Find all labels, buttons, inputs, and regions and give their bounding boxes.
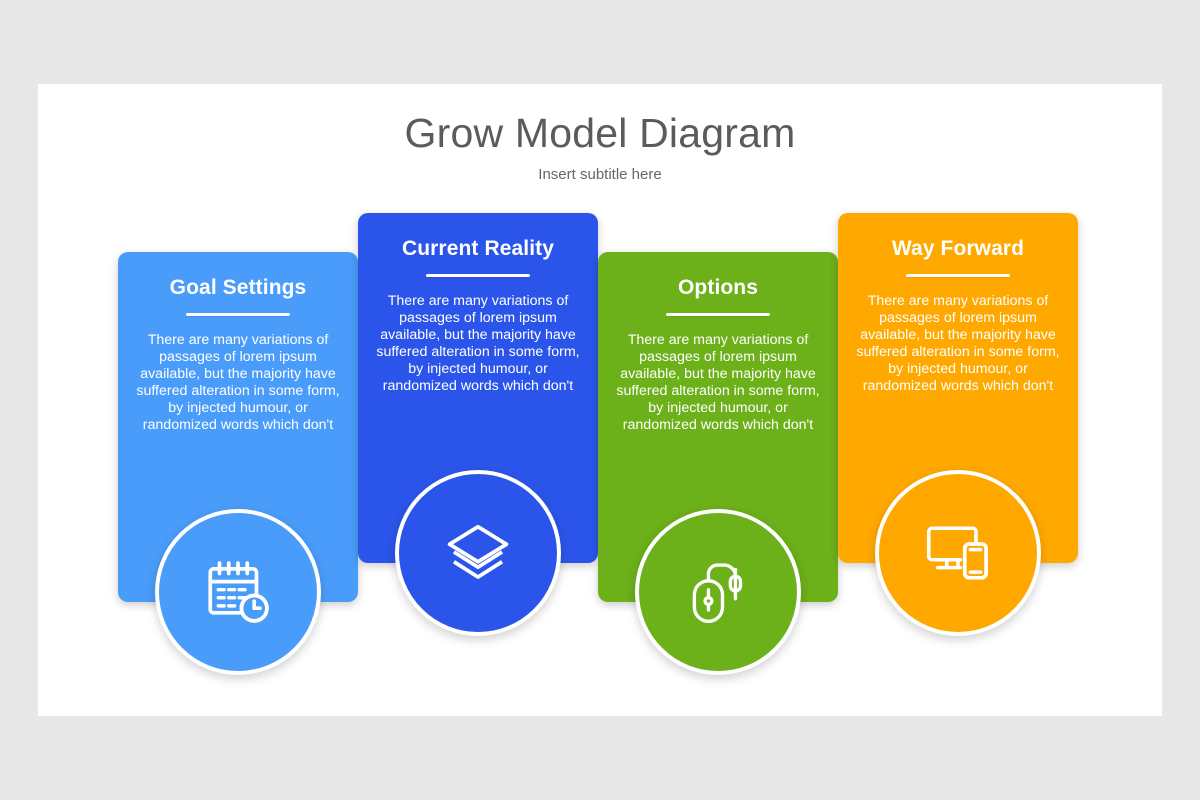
card-divider (666, 313, 770, 316)
computer-mouse-icon (682, 556, 754, 628)
icon-badge-options[interactable] (635, 509, 801, 675)
diagram-cards: Goal Settings There are many variations … (38, 84, 1162, 716)
icon-badge-current-reality[interactable] (395, 470, 561, 636)
icon-badge-way-forward[interactable] (875, 470, 1041, 636)
card-body: There are many variations of passages of… (598, 332, 838, 434)
card-body: There are many variations of passages of… (838, 293, 1078, 395)
devices-icon (922, 517, 994, 589)
card-divider (426, 274, 530, 277)
card-divider (906, 274, 1010, 277)
card-title: Way Forward (838, 237, 1078, 261)
card-body: There are many variations of passages of… (358, 293, 598, 395)
card-divider (186, 313, 290, 316)
card-body: There are many variations of passages of… (118, 332, 358, 434)
card-title: Current Reality (358, 237, 598, 261)
card-title: Options (598, 276, 838, 300)
card-title: Goal Settings (118, 276, 358, 300)
layers-stack-icon (443, 518, 513, 588)
calendar-clock-icon (201, 555, 275, 629)
icon-badge-goal-settings[interactable] (155, 509, 321, 675)
slide-canvas: Grow Model Diagram Insert subtitle here … (38, 84, 1162, 716)
